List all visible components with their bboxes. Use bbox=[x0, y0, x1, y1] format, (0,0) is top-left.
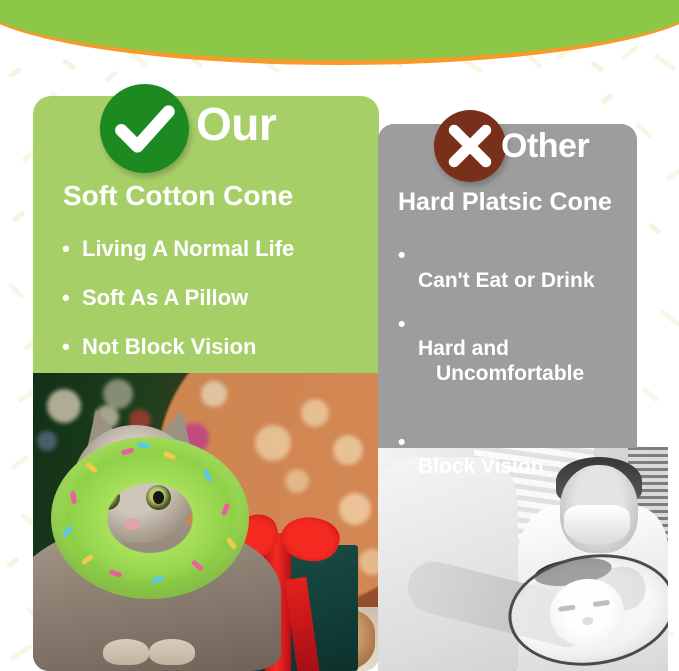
list-item-line: Block Vision bbox=[418, 455, 544, 478]
christmas-background bbox=[33, 373, 379, 671]
list-item-line: Can't Eat or Drink bbox=[418, 269, 595, 292]
our-feature-list: Living A Normal Life Soft As A Pillow No… bbox=[62, 236, 294, 383]
list-item: Can't Eat or Drink bbox=[398, 244, 595, 294]
cat-paw bbox=[103, 639, 149, 665]
our-product-photo bbox=[33, 373, 379, 671]
list-item: Hard and Uncomfortable bbox=[398, 313, 595, 412]
other-feature-list: Can't Eat or Drink Hard and Uncomfortabl… bbox=[398, 244, 595, 499]
list-item: Not Block Vision bbox=[62, 334, 294, 360]
list-item-line: Hard and bbox=[418, 337, 509, 360]
cat-paw bbox=[149, 639, 195, 665]
list-item: Soft As A Pillow bbox=[62, 285, 294, 311]
comparison-section: Our Soft Cotton Cone Other Hard Platsic … bbox=[0, 0, 679, 671]
list-item: Block Vision bbox=[398, 431, 595, 481]
check-circle-icon bbox=[100, 84, 189, 173]
other-title: Other bbox=[501, 127, 589, 166]
our-title: Our bbox=[196, 97, 276, 151]
other-subtitle: Hard Platsic Cone bbox=[398, 188, 612, 217]
our-subtitle: Soft Cotton Cone bbox=[63, 180, 293, 212]
list-item-line: Uncomfortable bbox=[418, 362, 595, 387]
list-item: Living A Normal Life bbox=[62, 236, 294, 262]
donut-soft-cone bbox=[51, 437, 249, 599]
face-mask bbox=[564, 505, 630, 545]
x-circle-icon bbox=[434, 110, 506, 182]
